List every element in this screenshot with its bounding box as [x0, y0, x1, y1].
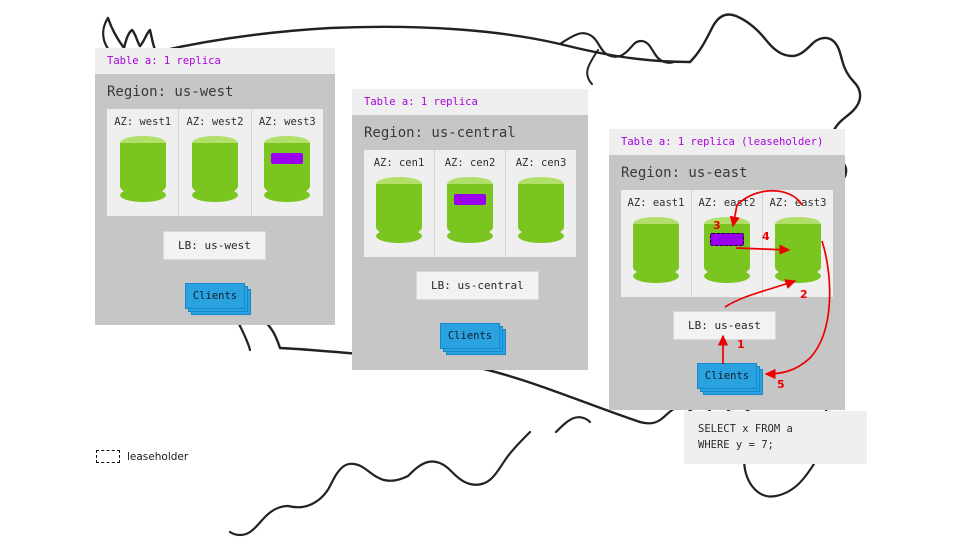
az-label-east1: AZ: east1	[628, 197, 685, 209]
leaseholder-block-east2	[710, 233, 744, 246]
az-label-west1: AZ: west1	[114, 116, 171, 128]
cylinder-body-icon	[633, 224, 679, 276]
az-west3[interactable]: AZ: west3	[252, 109, 323, 216]
clients-label-us-central: Clients	[440, 323, 500, 349]
cylinder-body-icon	[192, 143, 238, 195]
az-east1[interactable]: AZ: east1	[621, 190, 692, 297]
az-row-us-west: AZ: west1 AZ: west2 AZ: west3	[107, 109, 323, 216]
az-label-cen1: AZ: cen1	[374, 157, 425, 169]
az-cen3[interactable]: AZ: cen3	[506, 150, 576, 257]
region-name-us-east: Region: us-east	[609, 155, 845, 190]
az-label-cen2: AZ: cen2	[445, 157, 496, 169]
flow-step-number-2: 2	[800, 288, 808, 301]
region-panel-us-central: Table a: 1 replica Region: us-central AZ…	[352, 89, 588, 370]
az-west2[interactable]: AZ: west2	[179, 109, 251, 216]
diagram-canvas: Table a: 1 replica Region: us-west AZ: w…	[0, 0, 960, 540]
replica-block-cen2	[454, 194, 486, 205]
az-label-west2: AZ: west2	[187, 116, 244, 128]
az-east2[interactable]: AZ: east2	[692, 190, 763, 297]
az-row-us-central: AZ: cen1 AZ: cen2 AZ: cen3	[364, 150, 576, 257]
load-balancer-us-west[interactable]: LB: us-west	[163, 231, 266, 260]
legend-label: leaseholder	[127, 451, 188, 463]
node-cylinder-east1[interactable]	[633, 217, 679, 283]
az-cen1[interactable]: AZ: cen1	[364, 150, 435, 257]
clients-us-west[interactable]: Clients	[185, 283, 243, 307]
node-cylinder-cen3[interactable]	[518, 177, 564, 243]
flow-step-number-1: 1	[737, 338, 745, 351]
node-cylinder-east2[interactable]	[704, 217, 750, 283]
az-label-east2: AZ: east2	[699, 197, 756, 209]
replica-block-west3	[271, 153, 303, 164]
load-balancer-us-central[interactable]: LB: us-central	[416, 271, 539, 300]
cylinder-body-icon	[264, 143, 310, 195]
cylinder-body-icon	[376, 184, 422, 236]
region-title-us-east: Table a: 1 replica (leaseholder)	[609, 129, 845, 155]
cylinder-body-icon	[447, 184, 493, 236]
node-cylinder-west3[interactable]	[264, 136, 310, 202]
region-panel-us-west: Table a: 1 replica Region: us-west AZ: w…	[95, 48, 335, 325]
clients-us-east[interactable]: Clients	[697, 363, 755, 387]
node-cylinder-cen1[interactable]	[376, 177, 422, 243]
az-east3[interactable]: AZ: east3	[763, 190, 833, 297]
flow-step-number-4: 4	[762, 230, 770, 243]
region-title-us-west: Table a: 1 replica	[95, 48, 335, 74]
az-label-west3: AZ: west3	[259, 116, 316, 128]
region-title-us-central: Table a: 1 replica	[352, 89, 588, 115]
region-name-us-central: Region: us-central	[352, 115, 588, 150]
sql-query-box: SELECT x FROM a WHERE y = 7;	[684, 411, 867, 464]
cylinder-body-icon	[775, 224, 821, 276]
legend-leaseholder: leaseholder	[96, 450, 188, 463]
clients-label-us-east: Clients	[697, 363, 757, 389]
cylinder-body-icon	[518, 184, 564, 236]
cylinder-body-icon	[120, 143, 166, 195]
az-label-east3: AZ: east3	[770, 197, 827, 209]
node-cylinder-west1[interactable]	[120, 136, 166, 202]
dashed-rect-icon	[96, 450, 120, 463]
load-balancer-us-east[interactable]: LB: us-east	[673, 311, 776, 340]
az-cen2[interactable]: AZ: cen2	[435, 150, 506, 257]
flow-step-number-5: 5	[777, 378, 785, 391]
az-west1[interactable]: AZ: west1	[107, 109, 179, 216]
region-name-us-west: Region: us-west	[95, 74, 335, 109]
cylinder-body-icon	[704, 224, 750, 276]
az-label-cen3: AZ: cen3	[516, 157, 567, 169]
clients-us-central[interactable]: Clients	[440, 323, 498, 347]
flow-step-number-3: 3	[713, 219, 721, 232]
az-row-us-east: AZ: east1 AZ: east2 AZ: east3	[621, 190, 833, 297]
node-cylinder-west2[interactable]	[192, 136, 238, 202]
node-cylinder-cen2[interactable]	[447, 177, 493, 243]
clients-label-us-west: Clients	[185, 283, 245, 309]
region-panel-us-east: Table a: 1 replica (leaseholder) Region:…	[609, 129, 845, 410]
node-cylinder-east3[interactable]	[775, 217, 821, 283]
